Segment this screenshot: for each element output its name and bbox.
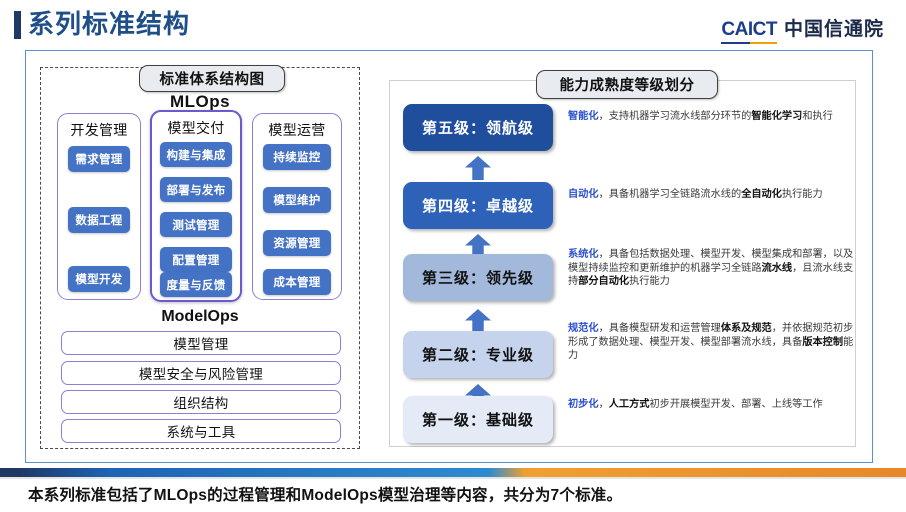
level-1-desc-1: ， xyxy=(599,399,609,410)
title-accent-bar xyxy=(14,11,21,39)
level-3-keyword: 系统化 xyxy=(568,249,599,260)
level-2-desc-1: ，具备模型研发和运营管理 xyxy=(599,323,721,334)
level-1-desc-2: 初步开展模型开发、部署、上线等工作 xyxy=(650,399,823,410)
level-desc-5: 智能化，支持机器学习流水线部分环节的智能化学习和执行 xyxy=(568,110,858,124)
level-4-keyword: 自动化 xyxy=(568,189,599,200)
chip-build-and-integration[interactable]: 构建与集成 xyxy=(160,142,232,167)
logo-chinese-text: 中国信通院 xyxy=(784,14,884,41)
level-desc-2: 规范化，具备模型研发和运营管理体系及规范，并依据规范初步形成了数据处理、模型开发… xyxy=(568,322,858,363)
level-box-5[interactable]: 第五级：领航级 xyxy=(403,104,553,151)
level-box-3[interactable]: 第三级：领先级 xyxy=(403,254,553,301)
column-development-management: 开发管理 需求管理 数据工程 模型开发 xyxy=(57,113,141,300)
level-4-desc-1: ，具备机器学习全链路流水线的 xyxy=(599,189,742,200)
chip-requirement-management[interactable]: 需求管理 xyxy=(68,146,130,172)
level-1-keyword: 初步化 xyxy=(568,399,599,410)
level-5-desc-1: ，支持机器学习流水线部分环节的 xyxy=(599,111,752,122)
column-model-operations: 模型运营 持续监控 模型维护 资源管理 成本管理 xyxy=(252,113,342,300)
page-header: 系列标准结构 CAICT 中国信通院 xyxy=(0,0,906,46)
right-panel-title-pill: 能力成熟度等级划分 xyxy=(536,70,718,99)
level-4-emphasis: 全自动化 xyxy=(741,189,782,200)
chip-config-management[interactable]: 配置管理 xyxy=(160,247,232,272)
level-5-desc-2: 和执行 xyxy=(802,111,833,122)
level-3-emphasis-2: 部分自动化 xyxy=(578,276,629,287)
chip-model-maintenance[interactable]: 模型维护 xyxy=(263,187,331,213)
level-2-emphasis: 体系及规范 xyxy=(721,323,772,334)
left-panel-title-pill: 标准体系结构图 xyxy=(139,65,285,92)
level-box-1[interactable]: 第一级：基础级 xyxy=(403,396,553,443)
column-title: 模型交付 xyxy=(152,118,240,138)
modelops-row-systems-tools[interactable]: 系统与工具 xyxy=(61,419,341,443)
level-box-2[interactable]: 第二级：专业级 xyxy=(403,331,553,378)
mlops-label: MLOps xyxy=(40,92,360,112)
footer-summary-text: 本系列标准包括了MLOps的过程管理和ModelOps模型治理等内容，共分为7个… xyxy=(28,483,622,505)
level-desc-3: 系统化，具备包括数据处理、模型开发、模型集成和部署，以及模型持续监控和更新维护的… xyxy=(568,248,858,289)
caict-logo: CAICT 中国信通院 xyxy=(721,14,884,44)
chip-resource-management[interactable]: 资源管理 xyxy=(263,230,331,256)
level-3-desc-3: 执行能力 xyxy=(629,276,670,287)
page-title: 系列标准结构 xyxy=(28,8,190,40)
chip-model-development[interactable]: 模型开发 xyxy=(68,266,130,292)
chip-metrics-and-feedback[interactable]: 度量与反馈 xyxy=(160,272,232,297)
level-3-emphasis: 流水线 xyxy=(762,263,793,274)
level-5-emphasis: 智能化学习 xyxy=(751,111,802,122)
level-2-keyword: 规范化 xyxy=(568,323,599,334)
level-desc-1: 初步化，人工方式初步开展模型开发、部署、上线等工作 xyxy=(568,398,858,412)
footer-gradient-bar xyxy=(0,468,906,477)
modelops-row-model-management[interactable]: 模型管理 xyxy=(61,331,341,355)
column-title: 开发管理 xyxy=(58,120,140,140)
column-model-delivery: 模型交付 构建与集成 部署与发布 测试管理 配置管理 度量与反馈 xyxy=(150,110,242,302)
footer-bar-shadow xyxy=(0,477,906,479)
chip-test-management[interactable]: 测试管理 xyxy=(160,212,232,237)
level-desc-4: 自动化，具备机器学习全链路流水线的全自动化执行能力 xyxy=(568,188,858,202)
modelops-row-org-structure[interactable]: 组织结构 xyxy=(61,390,341,414)
modelops-label: ModelOps xyxy=(40,308,360,326)
column-title: 模型运营 xyxy=(253,120,341,140)
chip-deploy-and-release[interactable]: 部署与发布 xyxy=(160,177,232,202)
chip-cost-management[interactable]: 成本管理 xyxy=(263,269,331,295)
level-box-4[interactable]: 第四级：卓越级 xyxy=(403,182,553,229)
chip-data-engineering[interactable]: 数据工程 xyxy=(68,207,130,233)
chip-continuous-monitoring[interactable]: 持续监控 xyxy=(263,144,331,170)
level-1-emphasis: 人工方式 xyxy=(609,399,650,410)
level-2-emphasis-2: 版本控制 xyxy=(802,337,843,348)
level-4-desc-2: 执行能力 xyxy=(782,189,823,200)
modelops-row-security-risk[interactable]: 模型安全与风险管理 xyxy=(61,361,341,385)
level-5-keyword: 智能化 xyxy=(568,111,599,122)
logo-mark-text: CAICT xyxy=(721,19,777,44)
